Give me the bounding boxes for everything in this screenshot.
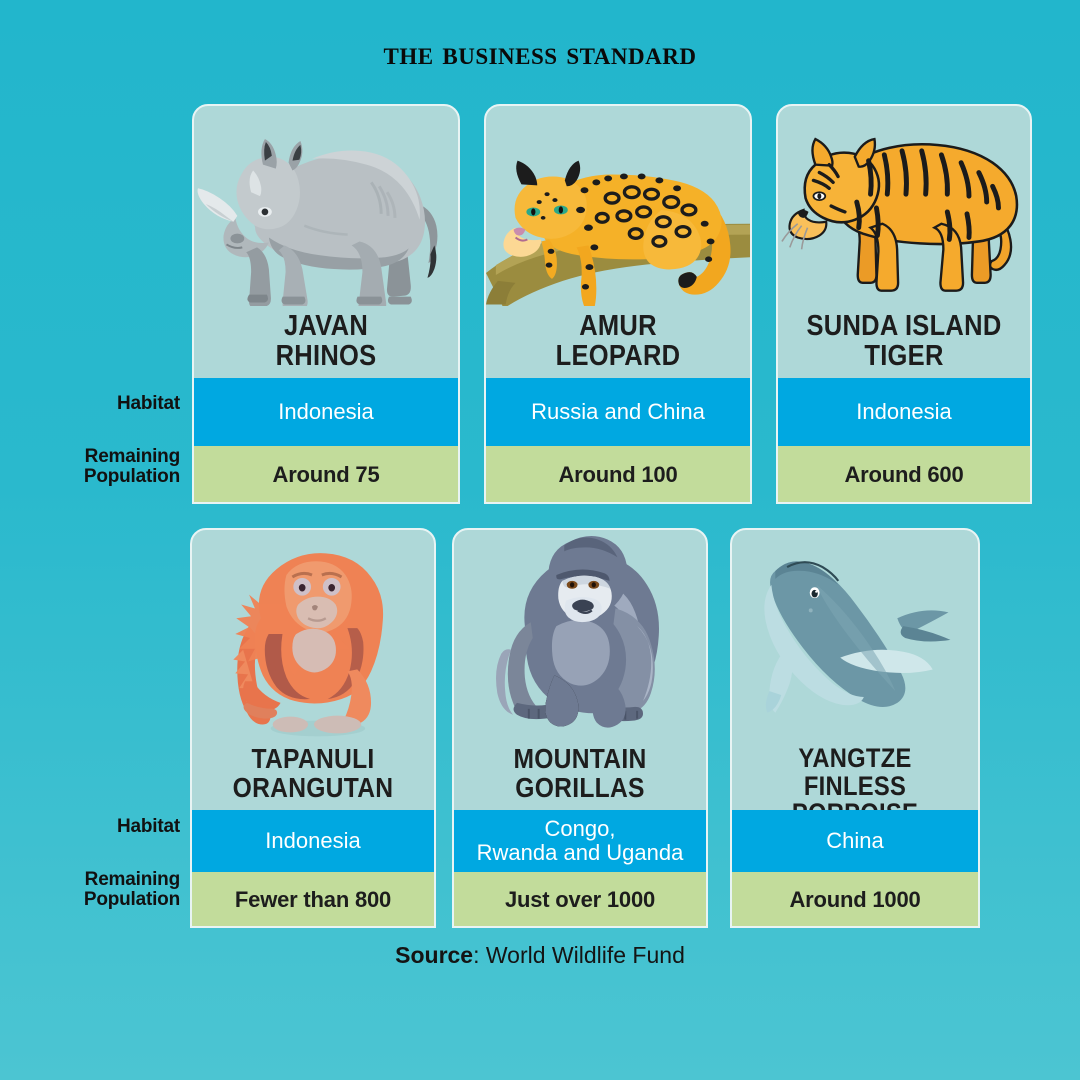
card-title-line1: YANGTZE FINLESS xyxy=(747,745,963,800)
card-title-line1: AMUR xyxy=(502,312,734,342)
card-title-mountain-gorillas: MOUNTAIN GORILLAS xyxy=(469,745,691,802)
population-value-sunda-island-tiger: Around 600 xyxy=(778,446,1030,504)
habitat-line1: Congo, xyxy=(545,817,616,841)
row-label-habitat-1: Habitat xyxy=(20,394,180,414)
card-title-line1: JAVAN xyxy=(210,312,442,342)
row-label-habitat-text-2: Habitat xyxy=(117,816,180,837)
habitat-value-sunda-island-tiger: Indonesia xyxy=(778,378,1030,446)
card-title-line2: GORILLAS xyxy=(469,774,691,803)
card-javan-rhinos[interactable]: JAVAN RHINOS Indonesia Around 75 xyxy=(192,104,460,504)
row-label-habitat-2: Habitat xyxy=(20,817,180,837)
source-label: Source xyxy=(395,942,473,968)
card-amur-leopard[interactable]: AMUR LEOPARD Russia and China Around 100 xyxy=(484,104,752,504)
porpoise-illustration xyxy=(732,530,978,740)
row-label-population-line2: Population xyxy=(10,467,180,487)
row-label-habitat-text: Habitat xyxy=(117,393,180,414)
source-footer: Source: World Wildlife Fund xyxy=(0,942,1080,969)
card-title-tapanuli-orangutan: TAPANULI ORANGUTAN xyxy=(207,745,420,802)
card-title-line1: MOUNTAIN xyxy=(469,745,691,774)
card-title-amur-leopard: AMUR LEOPARD xyxy=(502,312,734,371)
rhino-illustration xyxy=(194,106,458,306)
card-tapanuli-orangutan[interactable]: TAPANULI ORANGUTAN Indonesia Fewer than … xyxy=(190,528,436,928)
card-yangtze-finless-porpoise[interactable]: YANGTZE FINLESS PORPOISE China Around 10… xyxy=(730,528,980,928)
habitat-value-yangtze-finless-porpoise: China xyxy=(732,810,978,872)
card-title-line2: ORANGUTAN xyxy=(207,774,420,803)
card-mountain-gorillas[interactable]: MOUNTAIN GORILLAS Congo, Rwanda and Ugan… xyxy=(452,528,708,928)
source-value: World Wildlife Fund xyxy=(486,942,685,968)
page-title: The Business Standard xyxy=(0,36,1080,73)
row-label-population-line1: Remaining xyxy=(10,447,180,467)
habitat-value-tapanuli-orangutan: Indonesia xyxy=(192,810,434,872)
population-value-tapanuli-orangutan: Fewer than 800 xyxy=(192,872,434,928)
orangutan-illustration xyxy=(192,530,434,740)
habitat-value-javan-rhinos: Indonesia xyxy=(194,378,458,446)
population-value-yangtze-finless-porpoise: Around 1000 xyxy=(732,872,978,928)
population-value-javan-rhinos: Around 75 xyxy=(194,446,458,504)
habitat-value-mountain-gorillas: Congo, Rwanda and Uganda xyxy=(454,810,706,872)
card-title-sunda-island-tiger: SUNDA ISLAND TIGER xyxy=(793,312,1015,371)
gorilla-illustration xyxy=(454,530,706,740)
card-title-line2: LEOPARD xyxy=(502,342,734,372)
row-label-population-1: Remaining Population xyxy=(10,447,180,487)
card-title-line2: RHINOS xyxy=(210,342,442,372)
source-separator: : xyxy=(473,942,486,968)
row-label-population-line2-2: Population xyxy=(10,890,180,910)
card-title-line2: TIGER xyxy=(793,342,1015,372)
card-title-javan-rhinos: JAVAN RHINOS xyxy=(210,312,442,371)
habitat-line2: Rwanda and Uganda xyxy=(477,841,684,865)
habitat-value-amur-leopard: Russia and China xyxy=(486,378,750,446)
population-value-mountain-gorillas: Just over 1000 xyxy=(454,872,706,928)
leopard-illustration xyxy=(486,106,750,306)
card-title-line1: SUNDA ISLAND xyxy=(793,312,1015,342)
population-value-amur-leopard: Around 100 xyxy=(486,446,750,504)
row-label-population-2: Remaining Population xyxy=(10,870,180,910)
card-title-line1: TAPANULI xyxy=(207,745,420,774)
tiger-illustration xyxy=(778,106,1030,306)
card-sunda-island-tiger[interactable]: SUNDA ISLAND TIGER Indonesia Around 600 xyxy=(776,104,1032,504)
row-label-population-line1-2: Remaining xyxy=(10,870,180,890)
